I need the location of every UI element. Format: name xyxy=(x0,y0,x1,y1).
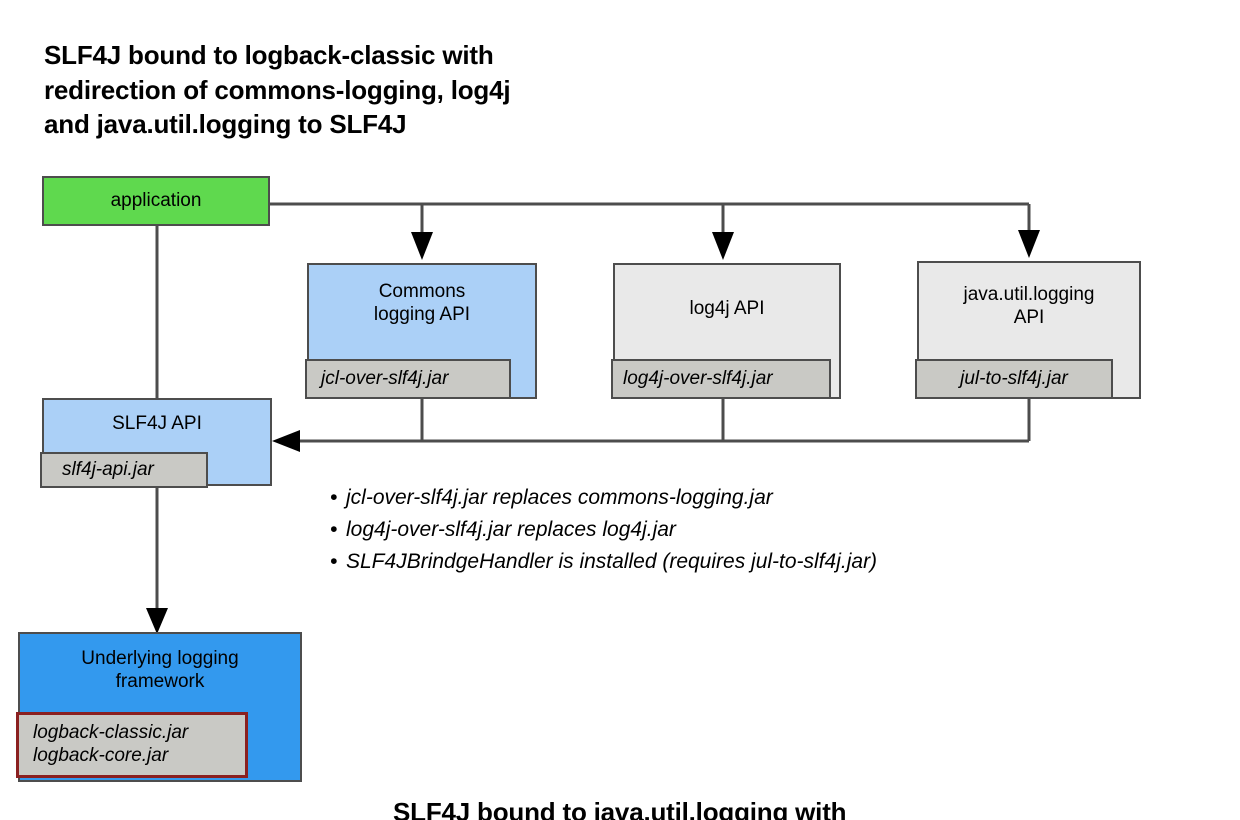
page-title: SLF4J bound to logback-classic with redi… xyxy=(44,38,704,142)
jar-log4j-over-slf4j[interactable]: log4j-over-slf4j.jar xyxy=(611,359,831,399)
list-item: •log4j-over-slf4j.jar replaces log4j.jar xyxy=(330,514,1150,546)
bullet-icon: • xyxy=(330,514,346,546)
node-slf4j-api-label: SLF4J API xyxy=(44,412,270,435)
bullet-icon: • xyxy=(330,482,346,514)
next-section-title: SLF4J bound to java.util.logging with xyxy=(393,797,1093,820)
bullet-icon: • xyxy=(330,546,346,578)
node-log4j-api-label: log4j API xyxy=(615,297,839,320)
diagram-canvas: SLF4J bound to logback-classic with redi… xyxy=(0,0,1240,820)
list-item-text: jcl-over-slf4j.jar replaces commons-logg… xyxy=(346,486,773,509)
list-item-text: SLF4JBrindgeHandler is installed (requir… xyxy=(346,550,877,573)
notes-list: •jcl-over-slf4j.jar replaces commons-log… xyxy=(330,482,1150,578)
node-underlying-logging-framework-label: Underlying logging framework xyxy=(20,647,300,693)
jar-logback[interactable]: logback-classic.jar logback-core.jar xyxy=(16,712,248,778)
node-application[interactable]: application xyxy=(42,176,270,226)
edge-apis-to-slf4j xyxy=(272,399,1029,452)
list-item: •SLF4JBrindgeHandler is installed (requi… xyxy=(330,546,1150,578)
edge-slf4j-to-underlying xyxy=(146,488,168,634)
node-commons-logging-api-label: Commons logging API xyxy=(309,280,535,326)
list-item-text: log4j-over-slf4j.jar replaces log4j.jar xyxy=(346,518,676,541)
node-java-util-logging-api-label: java.util.logging API xyxy=(919,283,1139,329)
jar-jcl-over-slf4j[interactable]: jcl-over-slf4j.jar xyxy=(305,359,511,399)
jar-jul-to-slf4j[interactable]: jul-to-slf4j.jar xyxy=(915,359,1113,399)
jar-slf4j-api[interactable]: slf4j-api.jar xyxy=(40,452,208,488)
node-application-label: application xyxy=(111,189,202,212)
list-item: •jcl-over-slf4j.jar replaces commons-log… xyxy=(330,482,1150,514)
edge-application-to-apis xyxy=(270,204,1040,260)
